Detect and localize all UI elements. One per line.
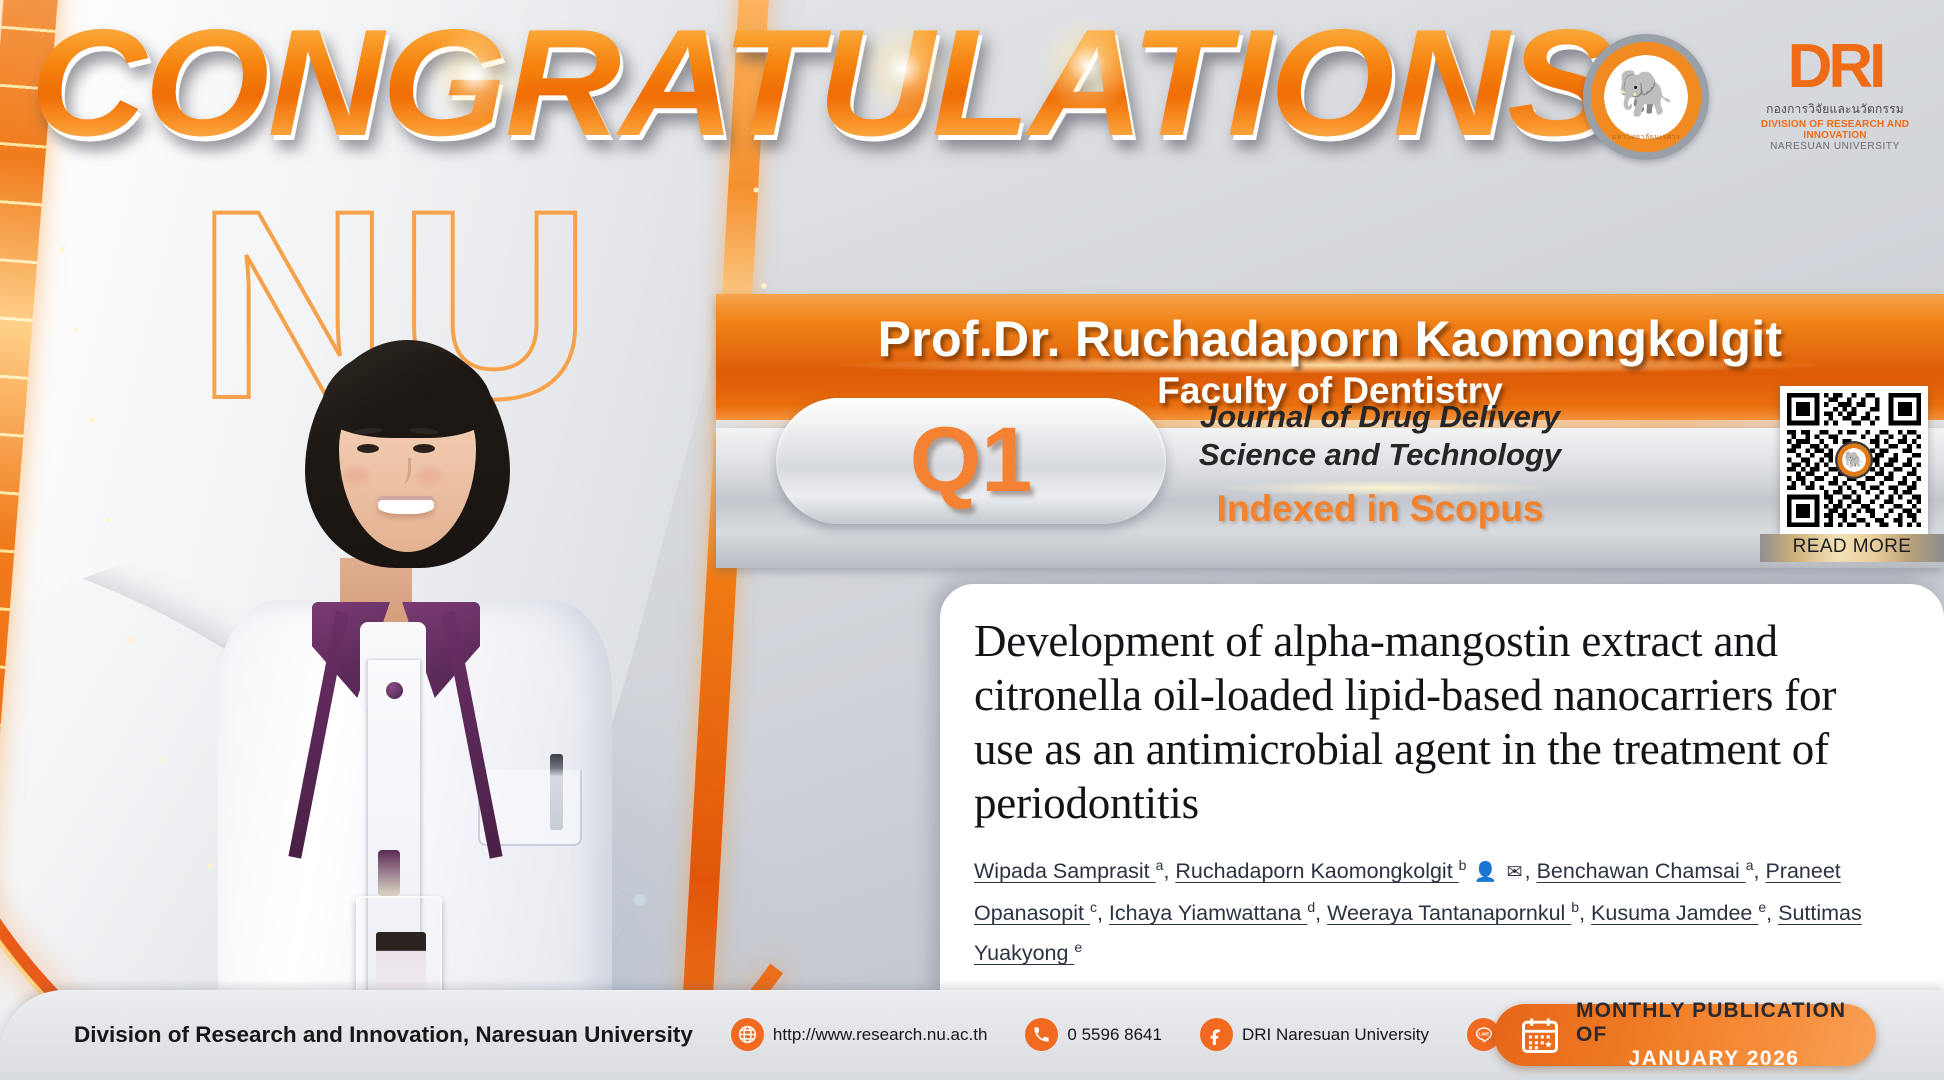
coat-button	[386, 682, 403, 699]
author-affiliation: c	[1090, 890, 1097, 924]
author-separator: ,	[1315, 901, 1327, 925]
journal-name-line1: Journal of Drug Delivery	[1180, 398, 1580, 436]
contact-website[interactable]: http://www.research.nu.ac.th	[731, 1018, 988, 1051]
monthly-publication-button[interactable]: MONTHLY PUBLICATION OF JANUARY 2026	[1494, 1004, 1876, 1066]
naresuan-university-seal: 🐘 มหาวิทยาลัยนเรศวร	[1583, 34, 1709, 160]
author-separator: ,	[1525, 859, 1537, 883]
author-name[interactable]: Benchawan Chamsai a	[1537, 859, 1754, 883]
quartile-label: Q1	[776, 414, 1166, 506]
article-card: Development of alpha-mangostin extract a…	[940, 584, 1944, 1000]
publication-text: MONTHLY PUBLICATION OF JANUARY 2026	[1576, 999, 1852, 1071]
author-affiliation: d	[1307, 890, 1315, 924]
author-separator: ,	[1579, 901, 1591, 925]
footer-organization: Division of Research and Innovation, Nar…	[74, 1022, 693, 1048]
researcher-portrait	[190, 330, 640, 1020]
journal-name-line2: Science and Technology	[1180, 436, 1580, 474]
qr-center-seal-icon: 🐘	[1835, 441, 1873, 479]
calendar-icon	[1518, 1013, 1562, 1057]
lanyard-clip	[378, 850, 400, 896]
author-affiliation: a	[1746, 848, 1754, 882]
journal-name: Journal of Drug Delivery Science and Tec…	[1180, 398, 1580, 474]
dri-mark-text: DRI	[1742, 36, 1928, 98]
facebook-label: DRI Naresuan University	[1242, 1025, 1429, 1045]
author-name[interactable]: Ichaya Yiamwattana d	[1109, 901, 1315, 925]
author-name[interactable]: Ruchadaporn Kaomongkolgit b	[1175, 859, 1466, 883]
page-title: CONGRATULATIONS	[30, 8, 1652, 158]
qr-code[interactable]: 🐘	[1780, 386, 1928, 534]
researcher-name: Prof.Dr. Ruchadaporn Kaomongkolgit	[716, 310, 1944, 368]
mouth	[378, 496, 434, 514]
author-name[interactable]: Kusuma Jamdee e	[1591, 901, 1766, 925]
dri-university-label: NARESUAN UNIVERSITY	[1742, 141, 1928, 152]
article-title: Development of alpha-mangostin extract a…	[974, 614, 1884, 830]
publication-line2: JANUARY 2026	[1576, 1047, 1852, 1071]
eye-right	[413, 444, 435, 453]
contact-phone[interactable]: 0 5596 8641	[1025, 1018, 1162, 1051]
author-affiliation: e	[1074, 930, 1082, 964]
svg-text:LINE: LINE	[1478, 1031, 1489, 1037]
dri-english-label: DIVISION OF RESEARCH AND INNOVATION	[1742, 119, 1928, 141]
cheek-left	[343, 468, 369, 484]
dri-logo: DRI กองการวิจัยและนวัตกรรม DIVISION OF R…	[1742, 36, 1928, 154]
author-separator: ,	[1163, 859, 1175, 883]
corresponding-author-icon: 👤 ✉	[1466, 862, 1524, 883]
hair-bangs	[321, 346, 493, 438]
cheek-right	[417, 468, 443, 484]
article-authors: Wipada Samprasit a, Ruchadaporn Kaomongk…	[974, 848, 1914, 970]
publication-line1: MONTHLY PUBLICATION OF	[1576, 999, 1852, 1047]
pen-icon	[550, 754, 563, 830]
elephant-icon: 🐘	[1617, 70, 1674, 116]
quartile-badge: Q1	[776, 398, 1166, 524]
head	[305, 340, 510, 590]
dri-thai-label: กองการวิจัยและนวัตกรรม	[1742, 100, 1928, 119]
facebook-icon	[1200, 1018, 1233, 1051]
author-name[interactable]: Weeraya Tantanapornkul b	[1327, 901, 1579, 925]
eye-left	[357, 444, 379, 453]
read-more-label: READ MORE	[1760, 536, 1944, 558]
phone-icon	[1025, 1018, 1058, 1051]
scopus-indexed-label: Indexed in Scopus	[1180, 488, 1580, 530]
website-label: http://www.research.nu.ac.th	[773, 1025, 988, 1045]
author-name[interactable]: Wipada Samprasit a	[974, 859, 1163, 883]
seal-ring-text: มหาวิทยาลัยนเรศวร	[1612, 132, 1681, 143]
author-affiliation: b	[1571, 890, 1579, 924]
globe-icon	[731, 1018, 764, 1051]
author-affiliation: e	[1758, 890, 1766, 924]
author-separator: ,	[1766, 901, 1778, 925]
badge-photo	[376, 932, 426, 990]
author-separator: ,	[1097, 901, 1109, 925]
author-separator: ,	[1754, 859, 1766, 883]
phone-label: 0 5596 8641	[1067, 1025, 1162, 1045]
contact-facebook[interactable]: DRI Naresuan University	[1200, 1018, 1429, 1051]
congratulations-poster: NU CONGRATULATIO	[0, 0, 1944, 1080]
